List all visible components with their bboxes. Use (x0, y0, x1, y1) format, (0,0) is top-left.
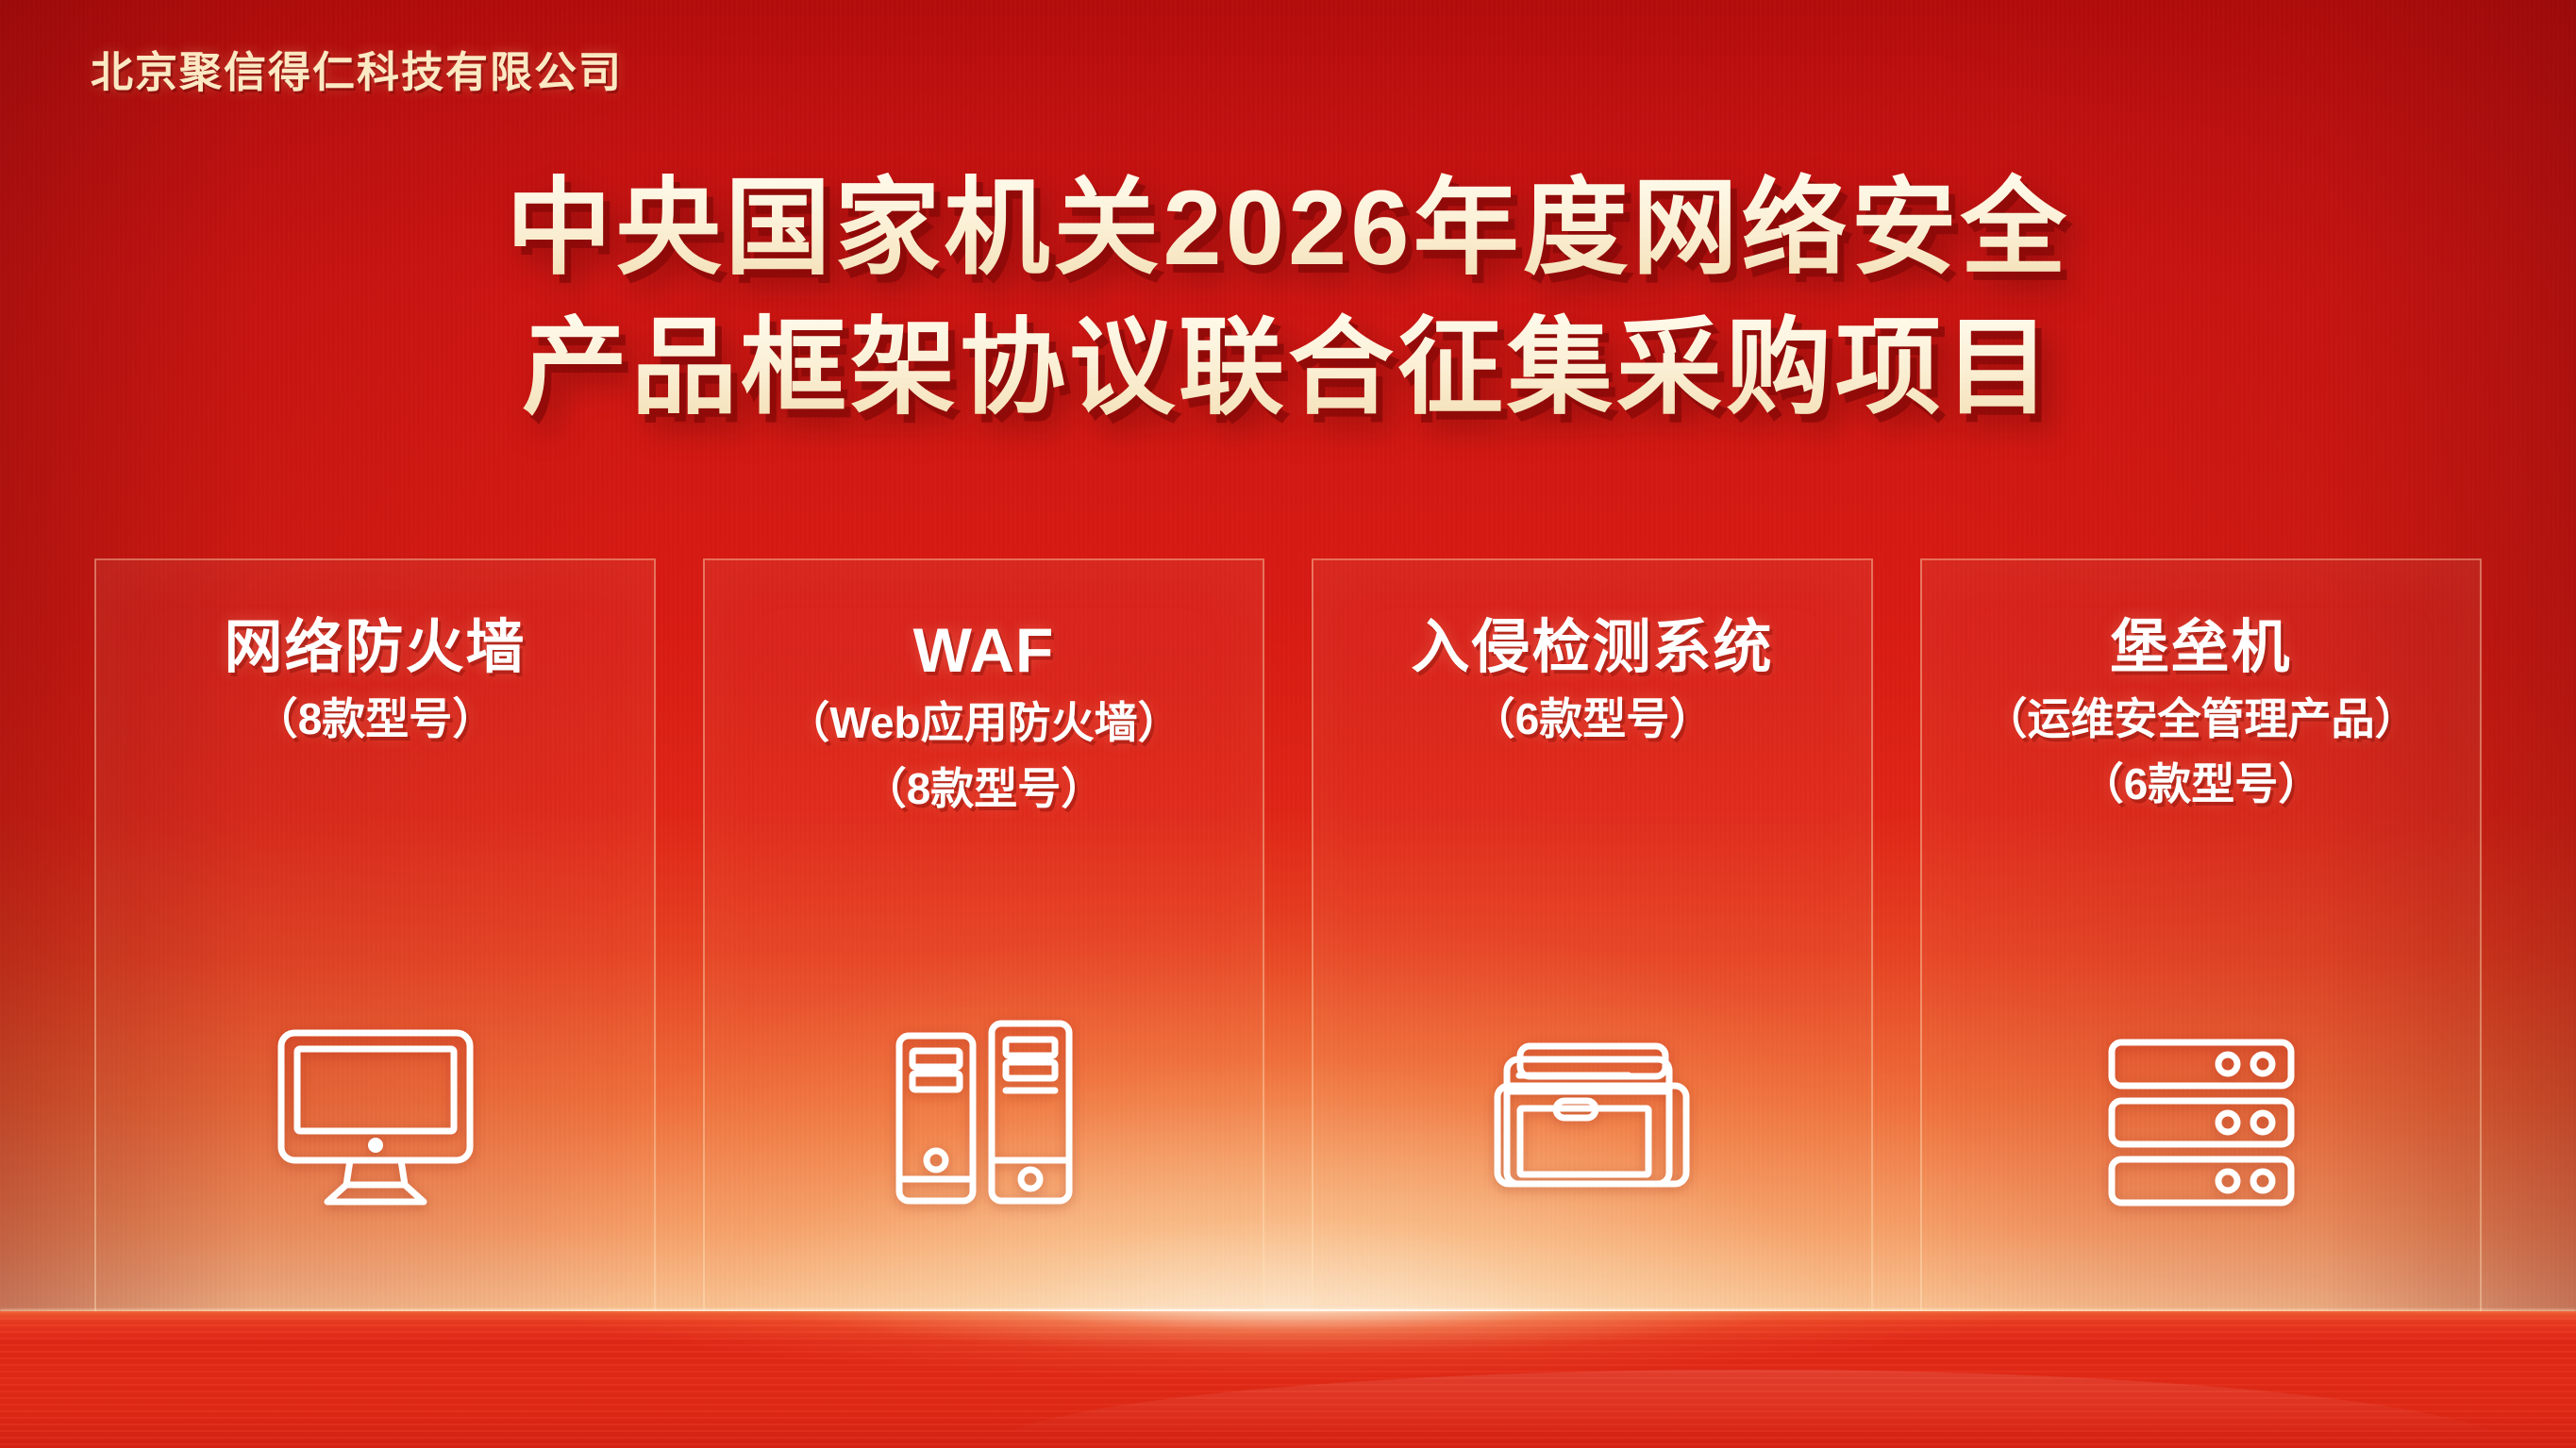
card-text-block: 入侵检测系统 （6款型号） (1401, 615, 1782, 747)
stacked-windows-icon (1313, 1033, 1871, 1207)
card-subtitle-1: （8款型号） (224, 691, 526, 748)
product-card-row: 网络防火墙 （8款型号） WAF （Web应用防火墙） （8款型号） (94, 558, 2482, 1323)
card-text-block: 堡垒机 （运维安全管理产品） （6款型号） (1975, 615, 2428, 813)
product-card-bastion-host[interactable]: 堡垒机 （运维安全管理产品） （6款型号） (1920, 558, 2482, 1323)
product-card-network-firewall[interactable]: 网络防火墙 （8款型号） (94, 558, 656, 1323)
card-title: 入侵检测系统 (1411, 615, 1773, 682)
poster: 北京聚信得仁科技有限公司 中央国家机关2026年度网络安全 产品框架协议联合征集… (0, 0, 2576, 1448)
page-title: 中央国家机关2026年度网络安全 产品框架协议联合征集采购项目 (0, 158, 2576, 438)
card-title: WAF (786, 615, 1180, 686)
card-title: 网络防火墙 (224, 615, 526, 682)
card-text-block: WAF （Web应用防火墙） （8款型号） (777, 615, 1190, 818)
headline-line-1: 中央国家机关2026年度网络安全 (0, 158, 2576, 298)
floor (0, 1311, 2576, 1448)
product-card-waf[interactable]: WAF （Web应用防火墙） （8款型号） (703, 558, 1264, 1323)
card-title: 堡垒机 (1984, 615, 2418, 682)
server-rack-icon (1922, 1038, 2480, 1207)
monitor-icon (96, 1028, 654, 1207)
card-subtitle-1: （运维安全管理产品） (1984, 691, 2418, 748)
card-subtitle-1: （Web应用防火墙） (786, 695, 1180, 752)
product-card-intrusion-detection[interactable]: 入侵检测系统 （6款型号） (1312, 558, 1873, 1323)
card-subtitle-1: （6款型号） (1411, 691, 1773, 748)
company-name: 北京聚信得仁科技有限公司 (91, 38, 623, 99)
tower-servers-icon (705, 1019, 1263, 1207)
headline-line-2: 产品框架协议联合征集采购项目 (0, 298, 2576, 438)
card-subtitle-2: （6款型号） (1984, 757, 2418, 813)
card-text-block: 网络防火墙 （8款型号） (214, 615, 535, 747)
card-subtitle-2: （8款型号） (786, 761, 1180, 818)
